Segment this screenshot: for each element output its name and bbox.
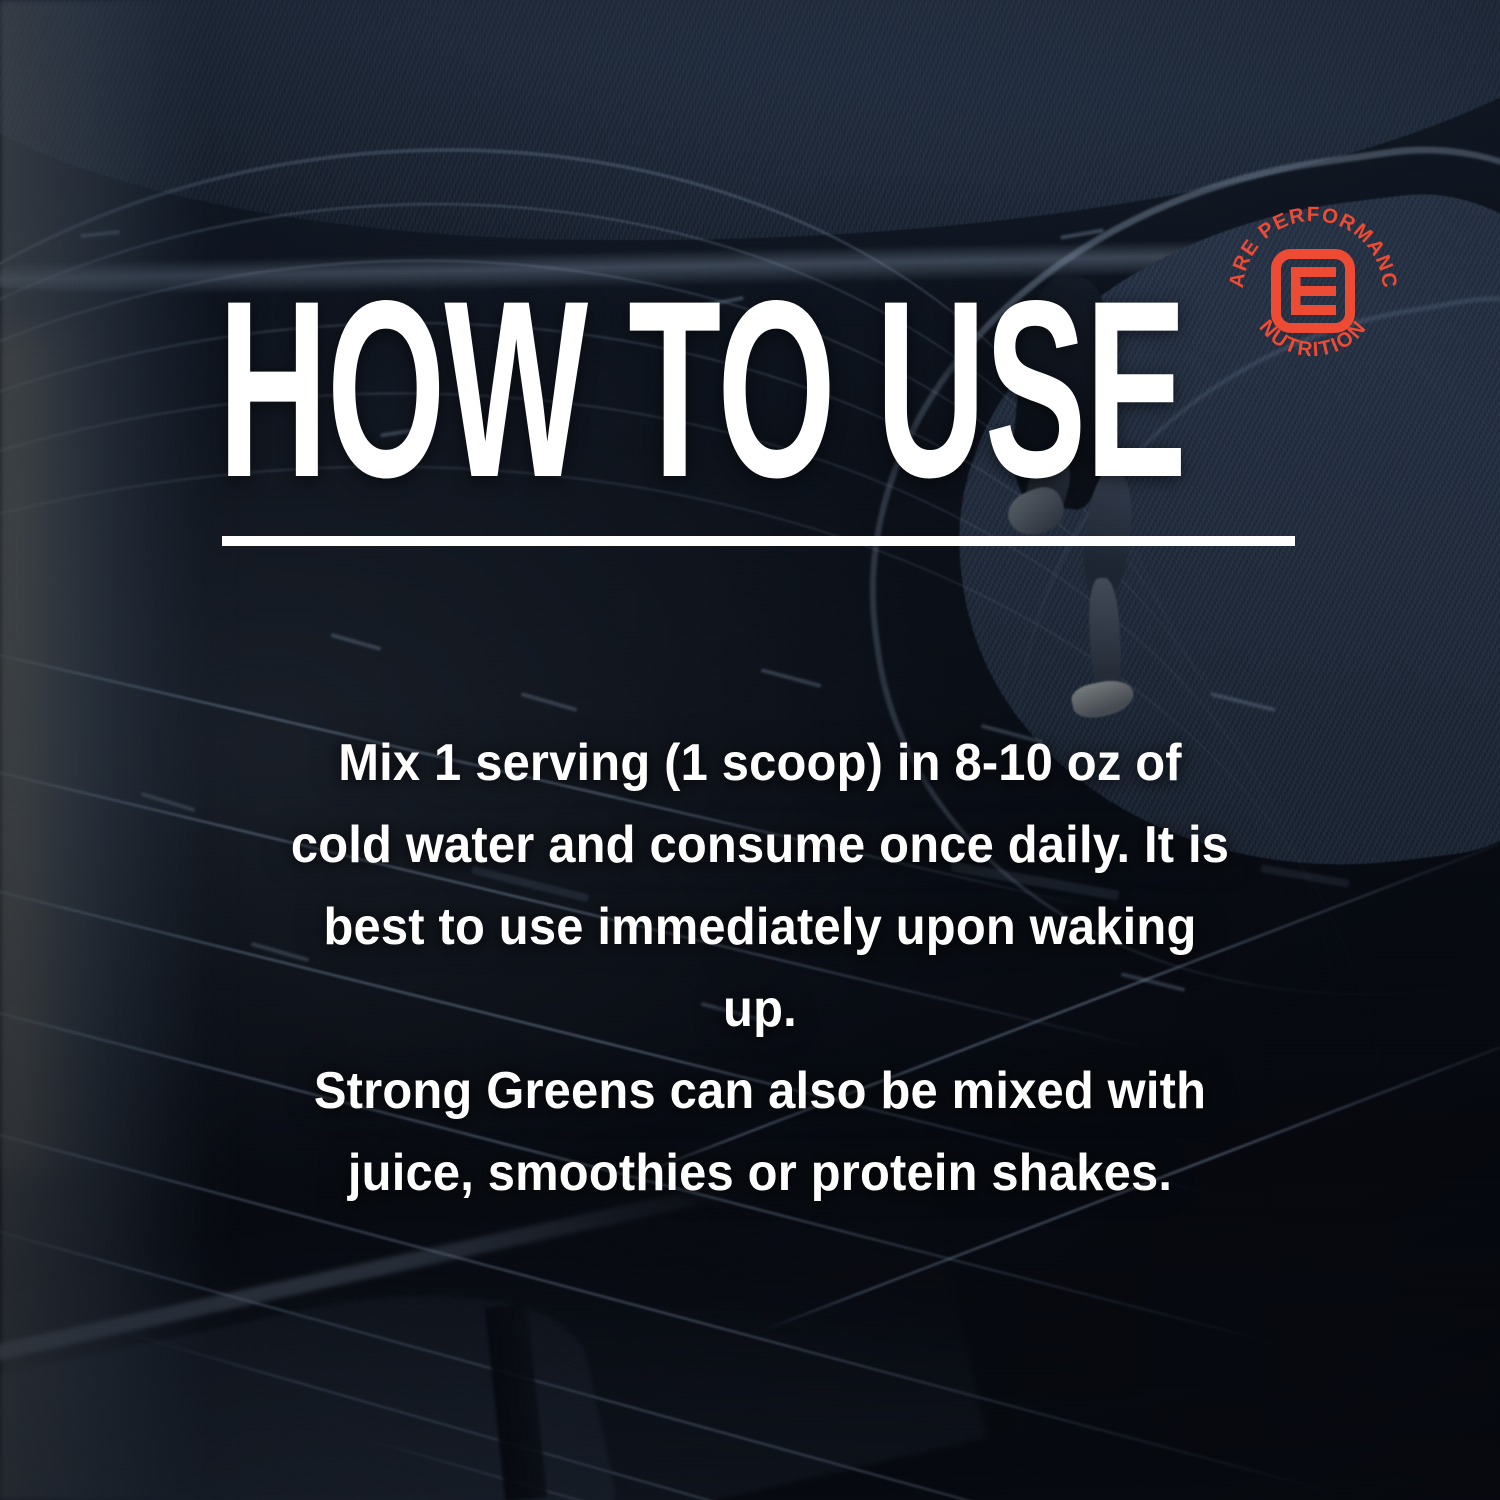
instruction-line: juice, smoothies or protein shakes.	[281, 1132, 1240, 1214]
instruction-line: Mix 1 serving (1 scoop) in 8-10 oz of	[281, 722, 1240, 804]
instruction-line: cold water and consume once daily. It is	[281, 804, 1240, 886]
how-to-use-poster: HOW TO USE Mix 1 serving (1 scoop) in 8-…	[0, 0, 1500, 1500]
title-divider-rule	[222, 536, 1295, 546]
logo-arc-bottom-text: NUTRITION	[1255, 315, 1372, 361]
instructions-block: Mix 1 serving (1 scoop) in 8-10 oz of co…	[250, 722, 1270, 1214]
logo-b-monogram-icon	[1276, 254, 1350, 328]
instruction-line: Strong Greens can also be mixed with	[281, 1050, 1240, 1132]
instruction-line: best to use immediately upon waking up.	[281, 886, 1240, 1050]
brand-logo-badge: BARE PERFORMANCE NUTRITION	[1223, 201, 1403, 381]
page-title: HOW TO USE	[218, 292, 877, 489]
poster-content: HOW TO USE Mix 1 serving (1 scoop) in 8-…	[0, 0, 1500, 1500]
